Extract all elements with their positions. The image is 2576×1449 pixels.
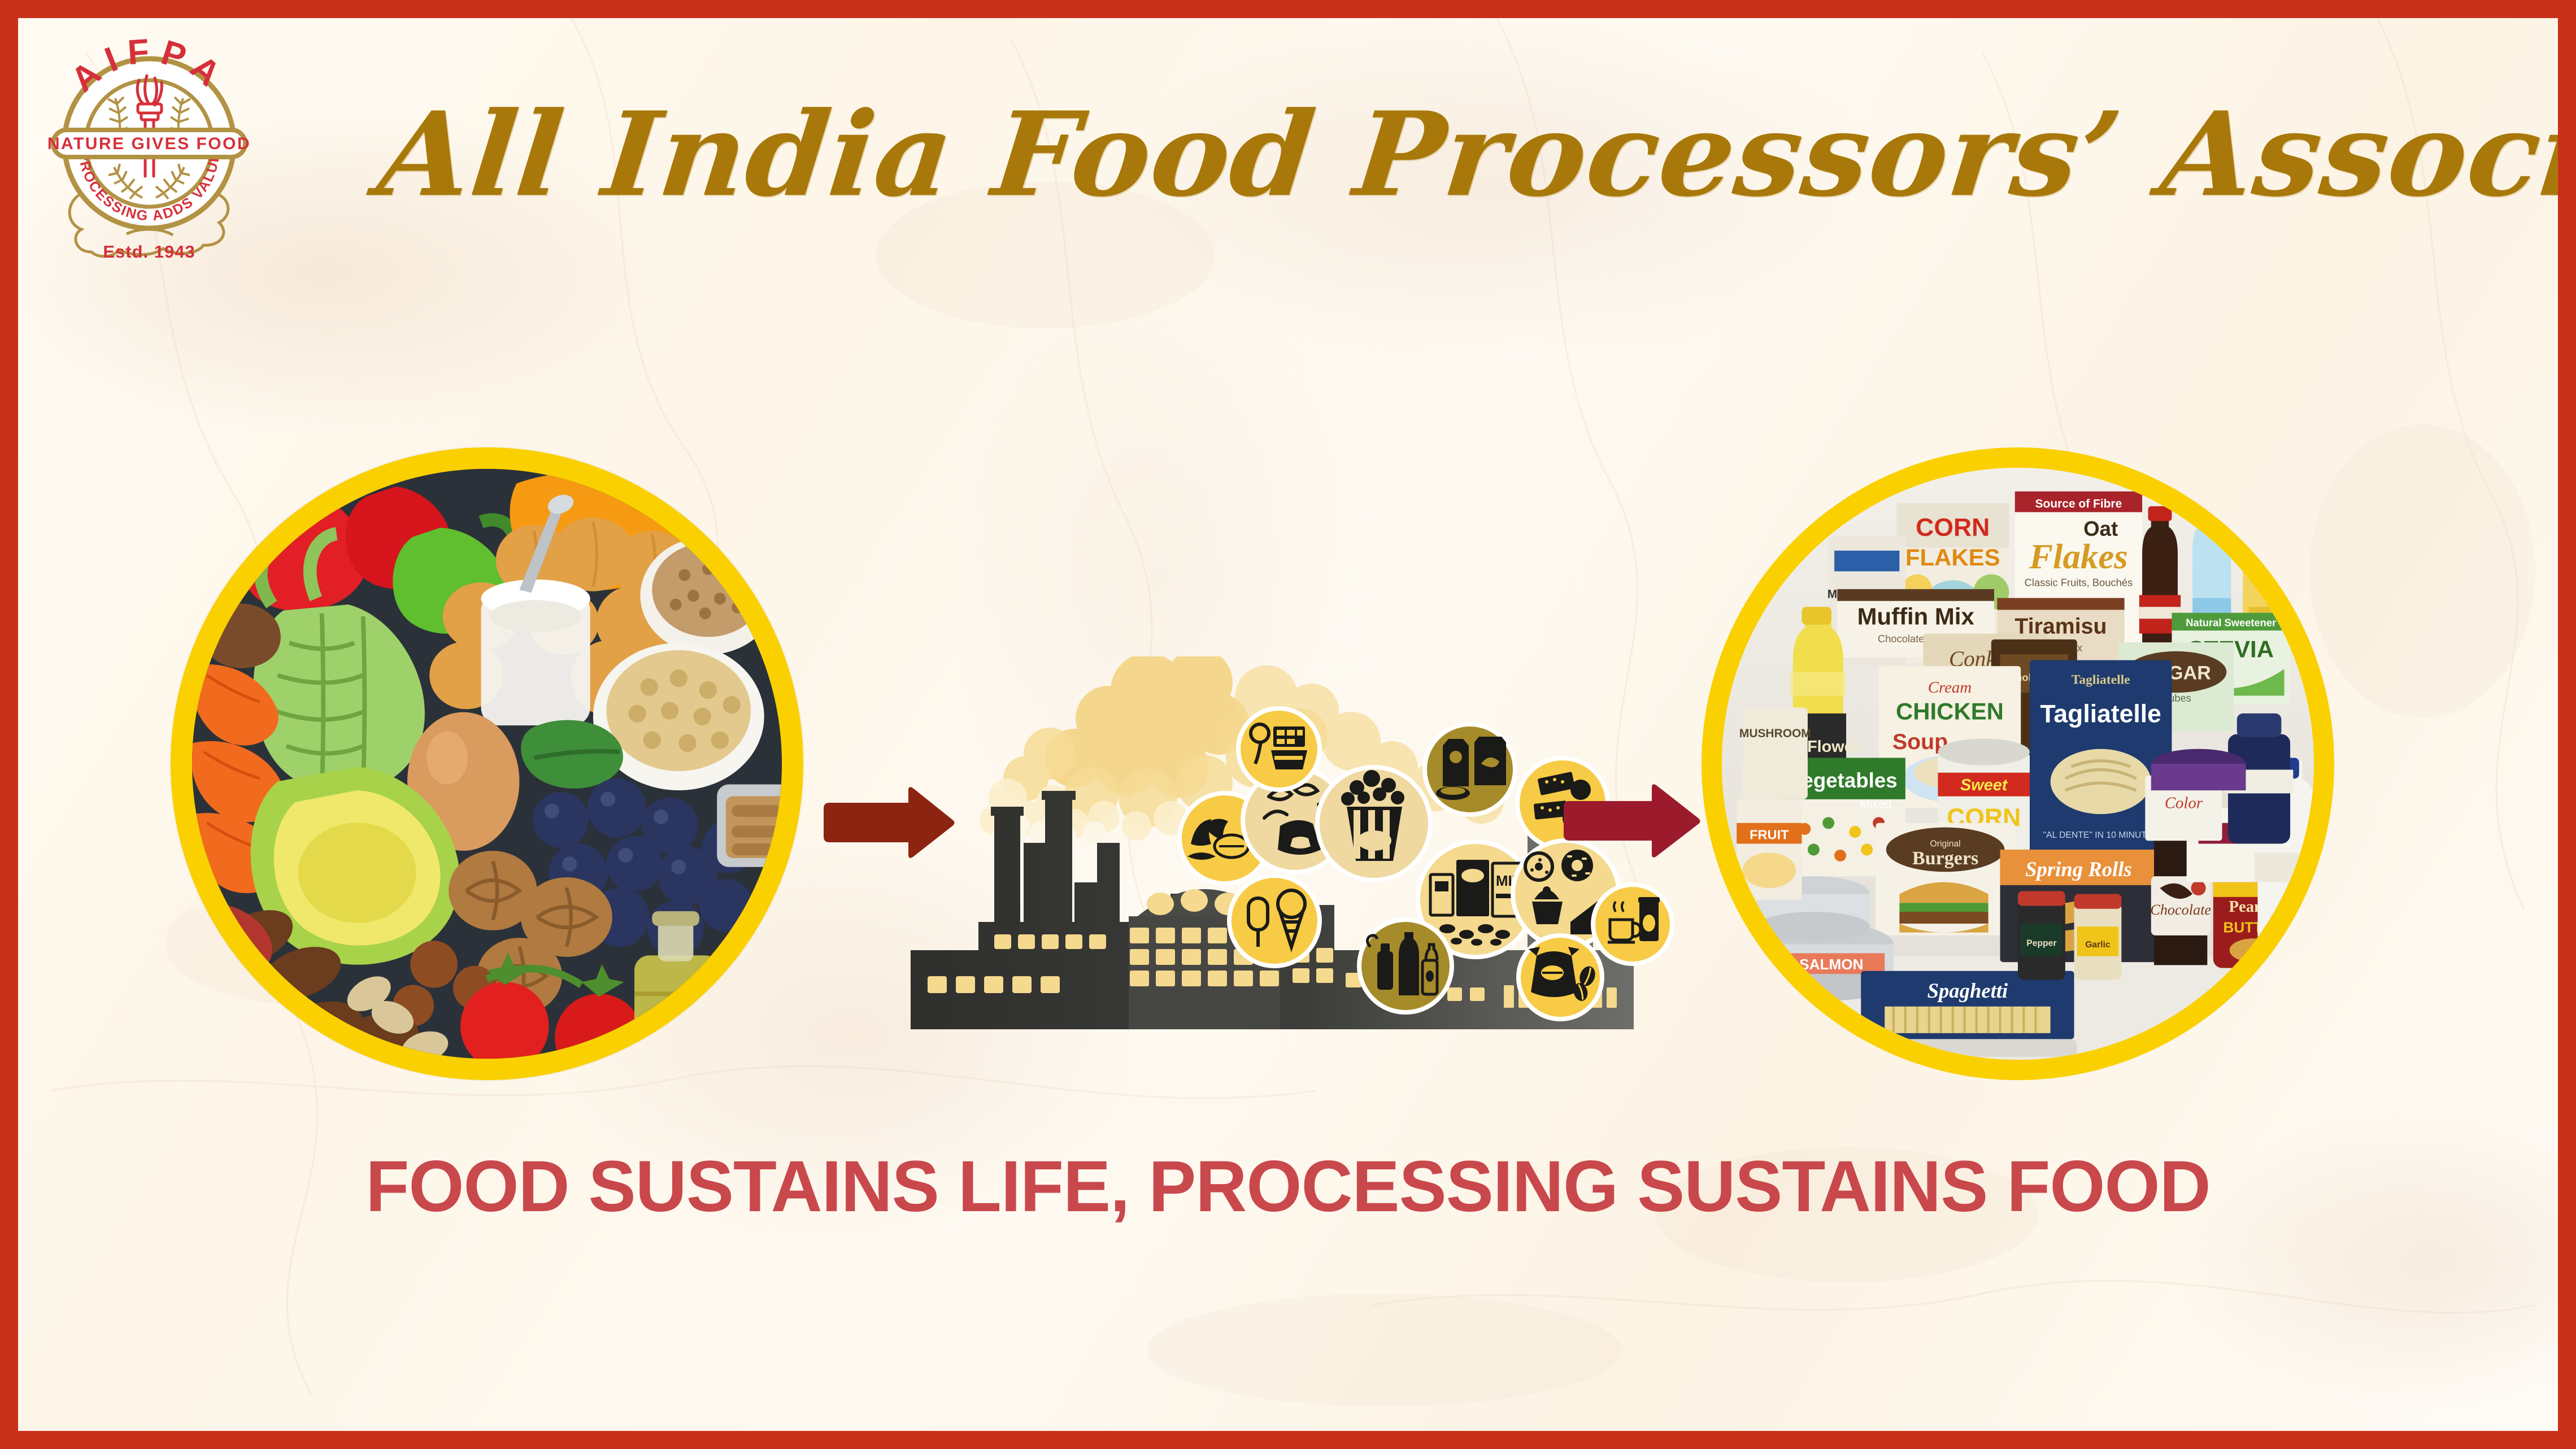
svg-text:Mixed: Mixed [1860, 798, 1892, 811]
svg-text:Spaghetti: Spaghetti [1927, 979, 2008, 1002]
svg-text:Garlic: Garlic [2085, 940, 2111, 950]
svg-text:SALMON: SALMON [1799, 956, 1863, 973]
svg-text:Flakes: Flakes [2029, 537, 2128, 576]
process-flow-arrow-out [1560, 781, 1702, 868]
logo-svg: AIFPA PROCESSING ADDS VALUE NATURE GIVES… [42, 31, 256, 262]
page-title: All India Food Processors’ Association [373, 97, 2566, 213]
svg-text:MUSHROOM: MUSHROOM [1739, 727, 1811, 740]
processed-food-circle: CORN FLAKES Source of Fibre Oat Flakes C… [1702, 447, 2334, 1080]
garlic-shaker: Garlic [2074, 894, 2122, 980]
svg-text:FRUIT: FRUIT [1750, 828, 1789, 842]
svg-text:Classic Fruits, Bouchés: Classic Fruits, Bouchés [2025, 577, 2133, 589]
banner-inner-frame: AIFPA PROCESSING ADDS VALUE NATURE GIVES… [10, 10, 2566, 1439]
svg-text:Chocolate: Chocolate [2150, 902, 2211, 918]
processed-food-photo: CORN FLAKES Source of Fibre Oat Flakes C… [1722, 468, 2314, 1060]
svg-text:Cream: Cream [1928, 678, 1972, 697]
svg-text:CORN: CORN [1916, 514, 1990, 542]
svg-text:BUTTER: BUTTER [2223, 919, 2283, 936]
svg-text:Color: Color [2165, 794, 2203, 812]
beverages-bubble [1357, 917, 1454, 1015]
tagline: FOOD SUSTAINS LIFE, PROCESSING SUSTAINS … [37, 1145, 2539, 1228]
svg-text:Burgers: Burgers [1912, 848, 1978, 869]
pet-food-bubble [1422, 722, 1517, 817]
mushroom-can: MUSHROOM [1739, 707, 1811, 799]
popcorn-bubble [1315, 765, 1433, 882]
logo-ribbon-text: NATURE GIVES FOOD [47, 134, 251, 153]
svg-text:Tagliatelle: Tagliatelle [2040, 700, 2161, 728]
svg-text:Sweet: Sweet [1960, 776, 2008, 794]
burgers-box: Original Burgers [1876, 823, 2014, 935]
raw-food-illustration [192, 469, 782, 1059]
aifpa-logo: AIFPA PROCESSING ADDS VALUE NATURE GIVES… [42, 31, 256, 262]
banner-root: AIFPA PROCESSING ADDS VALUE NATURE GIVES… [0, 0, 2576, 1449]
sardine-tin-icon [717, 785, 782, 867]
coffee-bubble [1591, 882, 1674, 966]
logo-established-text: Estd. 1943 [103, 242, 195, 262]
svg-text:"AL DENTE" IN 10 MINUTES: "AL DENTE" IN 10 MINUTES [2043, 830, 2159, 840]
svg-text:Spring Rolls: Spring Rolls [2025, 858, 2132, 881]
spaghetti-box: Spaghetti [1861, 971, 2074, 1039]
svg-text:Muffin Mix: Muffin Mix [1857, 603, 1974, 630]
purple-lid-jar [2151, 749, 2246, 790]
raw-food-circle [171, 447, 803, 1080]
coffee-bean-sack-bubble [1516, 933, 1604, 1021]
fruit-can: FRUIT [1737, 799, 1802, 900]
processed-food-illustration: CORN FLAKES Source of Fibre Oat Flakes C… [1722, 468, 2314, 1060]
arrow-right-icon [1560, 781, 1702, 868]
logo-ribbon: NATURE GIVES FOOD [47, 130, 251, 157]
svg-text:FLAKES: FLAKES [1905, 544, 2000, 571]
candy-chocolate-bubble [1236, 706, 1322, 792]
svg-text:CHICKEN: CHICKEN [1896, 698, 2004, 724]
svg-text:Tagliatelle: Tagliatelle [2072, 673, 2130, 687]
svg-text:Source of Fibre: Source of Fibre [2035, 498, 2122, 511]
raw-food-photo [192, 469, 782, 1059]
ice-cream-bubble [1227, 873, 1322, 968]
svg-text:Pepper: Pepper [2026, 938, 2056, 948]
svg-text:Natural Sweetener: Natural Sweetener [2186, 616, 2276, 628]
pepper-shaker: Pepper [2018, 891, 2065, 980]
